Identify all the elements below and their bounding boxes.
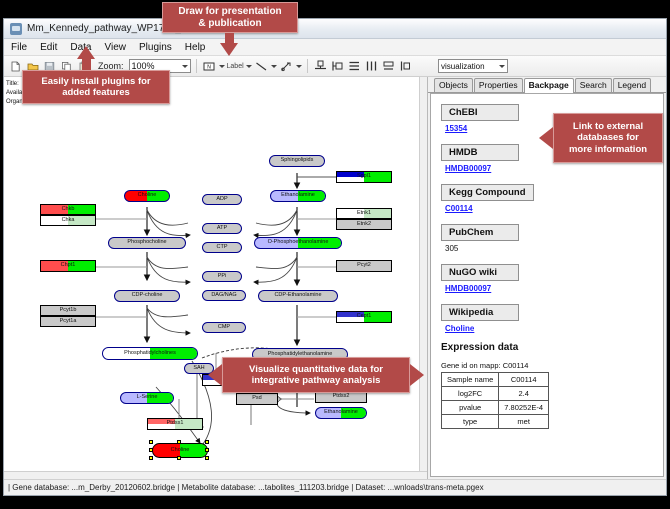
gene-sgpl1[interactable]: Sgpl1 xyxy=(336,171,392,183)
canvas-meta-available: Availa xyxy=(6,90,22,96)
node-label: L-Serine xyxy=(135,395,160,401)
gene-label: Pcyt1b xyxy=(60,308,77,314)
align-rows-icon[interactable] xyxy=(347,59,362,74)
table-row: type met xyxy=(442,415,549,429)
pathvisio-icon xyxy=(10,23,22,35)
gene-psd[interactable]: Psd xyxy=(236,393,278,405)
node-atp[interactable]: ATP xyxy=(202,223,242,234)
node-phosphatidylcholines[interactable]: Phosphatidylcholines xyxy=(102,347,198,360)
node-phosphocholine[interactable]: Phosphocholine xyxy=(108,237,186,249)
selection-handle[interactable] xyxy=(205,456,209,460)
align-top-icon[interactable] xyxy=(313,59,328,74)
node-adp[interactable]: ADP xyxy=(202,194,242,205)
gene-label: Pcyt2 xyxy=(357,263,371,269)
node-label: Ethanolamine xyxy=(322,410,360,416)
db-name: ChEBI xyxy=(441,104,519,121)
chevron-down-icon xyxy=(499,65,505,68)
callout-plugins-text: Easily install plugins for added feature… xyxy=(41,76,150,98)
visualization-value: visualization xyxy=(441,62,485,71)
gene-etnk2[interactable]: Etnk2 xyxy=(336,219,392,230)
datanode-icon[interactable]: N xyxy=(202,59,217,74)
node-label: ADP xyxy=(214,197,229,203)
callout-draw-text: Draw for presentation & publication xyxy=(178,6,281,30)
callout-plugins-stem xyxy=(82,58,91,70)
tab-search[interactable]: Search xyxy=(575,78,612,92)
row-key: type xyxy=(442,415,499,429)
visualization-combo[interactable]: visualization xyxy=(438,59,508,73)
gene-pcyt1b[interactable]: Pcyt1b xyxy=(40,305,96,316)
node-dagnag[interactable]: DAG/NAG xyxy=(202,290,246,301)
node-label: PPi xyxy=(216,274,229,280)
tab-backpage[interactable]: Backpage xyxy=(524,78,574,93)
pathway-canvas[interactable]: Title: Availa Organi xyxy=(4,77,428,479)
selection-handle[interactable] xyxy=(205,448,209,452)
gene-label: Ptdss1 xyxy=(167,421,184,427)
db-entry-pubchem: PubChem 305 xyxy=(441,222,663,253)
node-label: DAG/NAG xyxy=(209,293,238,299)
db-entry-nugowiki: NuGO wiki HMDB00097 xyxy=(441,262,663,293)
node-label: SAH xyxy=(191,366,206,372)
node-ethanolamine-bottom[interactable]: Ethanolamine xyxy=(315,407,367,419)
distribute-icon[interactable] xyxy=(364,59,379,74)
callout-links-text: Link to external databases for more info… xyxy=(569,121,647,155)
gene-chka[interactable]: Chka xyxy=(40,215,96,226)
line-icon[interactable] xyxy=(254,59,269,74)
callout-plugins-arrow xyxy=(77,46,95,59)
row-value: 2.4 xyxy=(499,387,549,401)
chevron-down-icon[interactable] xyxy=(296,65,302,68)
gene-id-on-mapp: Gene id on mapp: C00114 xyxy=(441,361,663,370)
canvas-meta-title: Title: xyxy=(6,81,19,87)
selection-handle[interactable] xyxy=(177,440,181,444)
tab-objects[interactable]: Objects xyxy=(434,78,473,92)
gene-label: Ptdss2 xyxy=(333,394,350,400)
title-bar: Mm_Kennedy_pathway_WP1771_45176.gpml xyxy=(4,19,666,39)
row-value: 7.80252E-4 xyxy=(499,401,549,415)
node-label: Phosphatidylcholines xyxy=(122,351,178,357)
menu-bar: File Edit Data View Plugins Help xyxy=(4,39,666,56)
db-name: Kegg Compound xyxy=(441,184,534,201)
node-o-phosphoethanolamine[interactable]: O-Phosphoethanolamine xyxy=(254,237,342,249)
table-row: Sample name C00114 xyxy=(442,373,549,387)
db-link-nugowiki[interactable]: HMDB00097 xyxy=(445,284,663,293)
menu-file[interactable]: File xyxy=(9,41,29,54)
chevron-down-icon[interactable] xyxy=(271,65,277,68)
node-label: CMP xyxy=(216,325,232,331)
gene-label: Sgpl1 xyxy=(357,174,371,180)
callout-links: Link to external databases for more info… xyxy=(553,113,663,163)
menu-plugins[interactable]: Plugins xyxy=(137,41,174,54)
node-l-serine-left[interactable]: L-Serine xyxy=(120,392,174,404)
node-label: ATP xyxy=(215,226,229,232)
callout-draw: Draw for presentation & publication xyxy=(162,2,298,33)
db-link-wikipedia[interactable]: Choline xyxy=(445,324,663,333)
gene-label: Chka xyxy=(62,218,75,224)
gene-pcyt1a[interactable]: Pcyt1a xyxy=(40,316,96,327)
callout-visualize-arrow-left xyxy=(208,364,222,386)
gene-cept1[interactable]: Cept1 xyxy=(336,311,392,323)
status-text: | Gene database: ...m_Derby_20120602.bri… xyxy=(8,483,484,492)
row-key: Sample name xyxy=(442,373,499,387)
gene-chkb[interactable]: Chkb xyxy=(40,204,96,215)
table-row: pvalue 7.80252E-4 xyxy=(442,401,549,415)
chevron-down-icon[interactable] xyxy=(219,65,225,68)
tab-legend[interactable]: Legend xyxy=(613,78,651,92)
callout-visualize-text: Visualize quantitative data for integrat… xyxy=(249,364,383,386)
row-value: C00114 xyxy=(499,373,549,387)
row-key: log2FC xyxy=(442,387,499,401)
status-bar: | Gene database: ...m_Derby_20120602.bri… xyxy=(4,479,666,495)
expression-data-title: Expression data xyxy=(441,342,663,353)
row-value: met xyxy=(499,415,549,429)
gene-label: Chpt1 xyxy=(61,263,76,269)
node-label: Sphingolipids xyxy=(279,158,316,164)
toolbar-separator xyxy=(196,59,197,73)
callout-draw-arrow xyxy=(220,43,238,56)
align-left-icon[interactable] xyxy=(330,59,345,74)
selection-handle[interactable] xyxy=(149,456,153,460)
side-panel-tabs: Objects Properties Backpage Search Legen… xyxy=(428,77,666,93)
node-ctp[interactable]: CTP xyxy=(202,242,242,253)
menu-view[interactable]: View xyxy=(102,41,128,54)
node-cdp-choline[interactable]: CDP-choline xyxy=(114,290,180,302)
selection-handle[interactable] xyxy=(149,440,153,444)
gene-etnk1[interactable]: Etnk1 xyxy=(336,208,392,219)
gene-ptdss1[interactable]: Ptdss1 xyxy=(147,418,203,430)
row-key: pvalue xyxy=(442,401,499,415)
callout-plugins: Easily install plugins for added feature… xyxy=(22,70,170,104)
node-ethanolamine-top[interactable]: Ethanolamine xyxy=(270,190,326,202)
node-sphingolipids[interactable]: Sphingolipids xyxy=(269,155,325,167)
canvas-horizontal-scrollbar[interactable] xyxy=(4,471,427,479)
gene-chpt1[interactable]: Chpt1 xyxy=(40,260,96,272)
menu-help[interactable]: Help xyxy=(183,41,208,54)
node-cmp[interactable]: CMP xyxy=(202,322,246,333)
node-label: O-Phosphoethanolamine xyxy=(266,240,331,246)
chevron-down-icon xyxy=(246,65,252,68)
db-name: PubChem xyxy=(441,224,519,241)
db-link-kegg[interactable]: C00114 xyxy=(445,204,663,213)
toolbar-separator xyxy=(307,59,308,73)
gene-label: Etnk2 xyxy=(357,222,371,228)
gene-label: Cept1 xyxy=(357,314,372,320)
node-label: CDP-choline xyxy=(130,293,165,299)
canvas-vertical-scrollbar[interactable] xyxy=(419,77,427,479)
node-label: CDP-Ethanolamine xyxy=(272,293,323,299)
selection-handle[interactable] xyxy=(205,440,209,444)
db-value-pubchem: 305 xyxy=(445,244,663,253)
order-icon[interactable] xyxy=(398,59,413,74)
node-label: Ethanolamine xyxy=(279,193,317,199)
db-name: Wikipedia xyxy=(441,304,519,321)
node-label: Choline xyxy=(169,448,192,454)
callout-links-arrow xyxy=(539,127,553,149)
node-label: Phosphocholine xyxy=(125,240,168,246)
db-link-hmdb[interactable]: HMDB00097 xyxy=(445,164,663,173)
stack-icon[interactable] xyxy=(381,59,396,74)
svg-text:N: N xyxy=(207,64,211,70)
gene-label: Pcyt1a xyxy=(60,319,77,325)
table-row: log2FC 2.4 xyxy=(442,387,549,401)
receptor-icon[interactable] xyxy=(279,59,294,74)
node-label: CTP xyxy=(215,245,230,251)
selection-handle[interactable] xyxy=(177,456,181,460)
gene-label: Chkb xyxy=(62,207,75,213)
chevron-down-icon xyxy=(182,65,188,68)
label-tool[interactable]: Label xyxy=(227,63,252,70)
gene-pcyt2[interactable]: Pcyt2 xyxy=(336,260,392,272)
node-label: Choline xyxy=(136,193,159,199)
new-file-icon[interactable] xyxy=(8,59,23,74)
db-entry-wikipedia: Wikipedia Choline xyxy=(441,302,663,333)
tab-properties[interactable]: Properties xyxy=(474,78,523,92)
label-tool-text: Label xyxy=(227,63,244,70)
gene-label: Etnk1 xyxy=(357,211,371,217)
expression-table: Sample name C00114 log2FC 2.4 pvalue 7.8… xyxy=(441,372,549,429)
node-ppi[interactable]: PPi xyxy=(202,271,242,282)
db-name: NuGO wiki xyxy=(441,264,519,281)
callout-visualize-arrow-right xyxy=(410,364,424,386)
callout-visualize: Visualize quantitative data for integrat… xyxy=(222,357,410,393)
db-entry-kegg: Kegg Compound C00114 xyxy=(441,182,663,213)
node-choline-top[interactable]: Choline xyxy=(124,190,170,202)
node-cdp-ethanolamine[interactable]: CDP-Ethanolamine xyxy=(258,290,338,302)
menu-edit[interactable]: Edit xyxy=(38,41,59,54)
gene-label: Psd xyxy=(252,396,261,402)
selection-handle[interactable] xyxy=(149,448,153,452)
db-name: HMDB xyxy=(441,144,519,161)
